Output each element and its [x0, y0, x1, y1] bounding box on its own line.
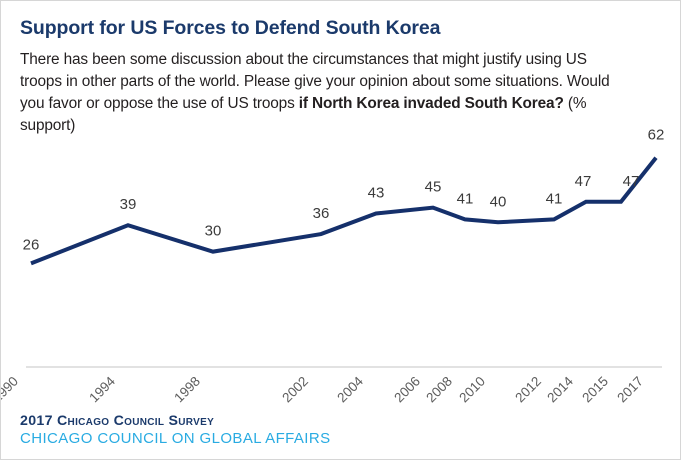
data-point-label-1994: 39: [120, 196, 137, 213]
data-point-label-2002: 36: [313, 205, 330, 222]
footer-survey-name: 2017 Chicago Council Survey: [20, 413, 660, 431]
x-tick-label-1998: 1998: [171, 374, 203, 406]
chart-figure: Support for US Forces to Defend South Ko…: [0, 0, 681, 460]
data-point-label-2015: 47: [623, 173, 640, 190]
footer: 2017 Chicago Council Survey CHICAGO COUN…: [20, 413, 660, 450]
data-point-label-2006: 45: [425, 179, 442, 196]
data-point-label-2012: 41: [546, 190, 563, 207]
x-tick-label-2008: 2008: [423, 374, 455, 406]
x-tick-label-2002: 2002: [279, 374, 311, 406]
x-tick-label-2014: 2014: [544, 373, 576, 405]
footer-organization-name: CHICAGO COUNCIL ON GLOBAL AFFAIRS: [20, 430, 660, 449]
data-point-label-1998: 30: [205, 223, 222, 240]
data-labels-group: 263930364345414041474762: [23, 127, 665, 254]
x-axis-tick-labels: 1990199419982002200420062008201020122014…: [1, 373, 646, 405]
data-point-label-2017: 62: [648, 127, 665, 144]
line-chart-plot: 263930364345414041474762 199019941998200…: [1, 1, 681, 460]
data-point-label-2010: 40: [490, 193, 507, 210]
x-tick-label-1990: 1990: [1, 374, 21, 406]
data-point-label-2014: 47: [575, 173, 592, 190]
x-tick-label-2017: 2017: [614, 374, 646, 406]
data-point-label-2004: 43: [368, 185, 385, 202]
x-tick-label-1994: 1994: [86, 373, 118, 405]
x-tick-label-2012: 2012: [512, 374, 544, 406]
x-tick-label-2015: 2015: [579, 374, 611, 406]
data-point-label-2008: 41: [457, 190, 474, 207]
data-point-label-1990: 26: [23, 236, 40, 253]
x-tick-label-2010: 2010: [456, 374, 488, 406]
x-tick-label-2004: 2004: [334, 373, 366, 405]
x-tick-label-2006: 2006: [391, 374, 423, 406]
